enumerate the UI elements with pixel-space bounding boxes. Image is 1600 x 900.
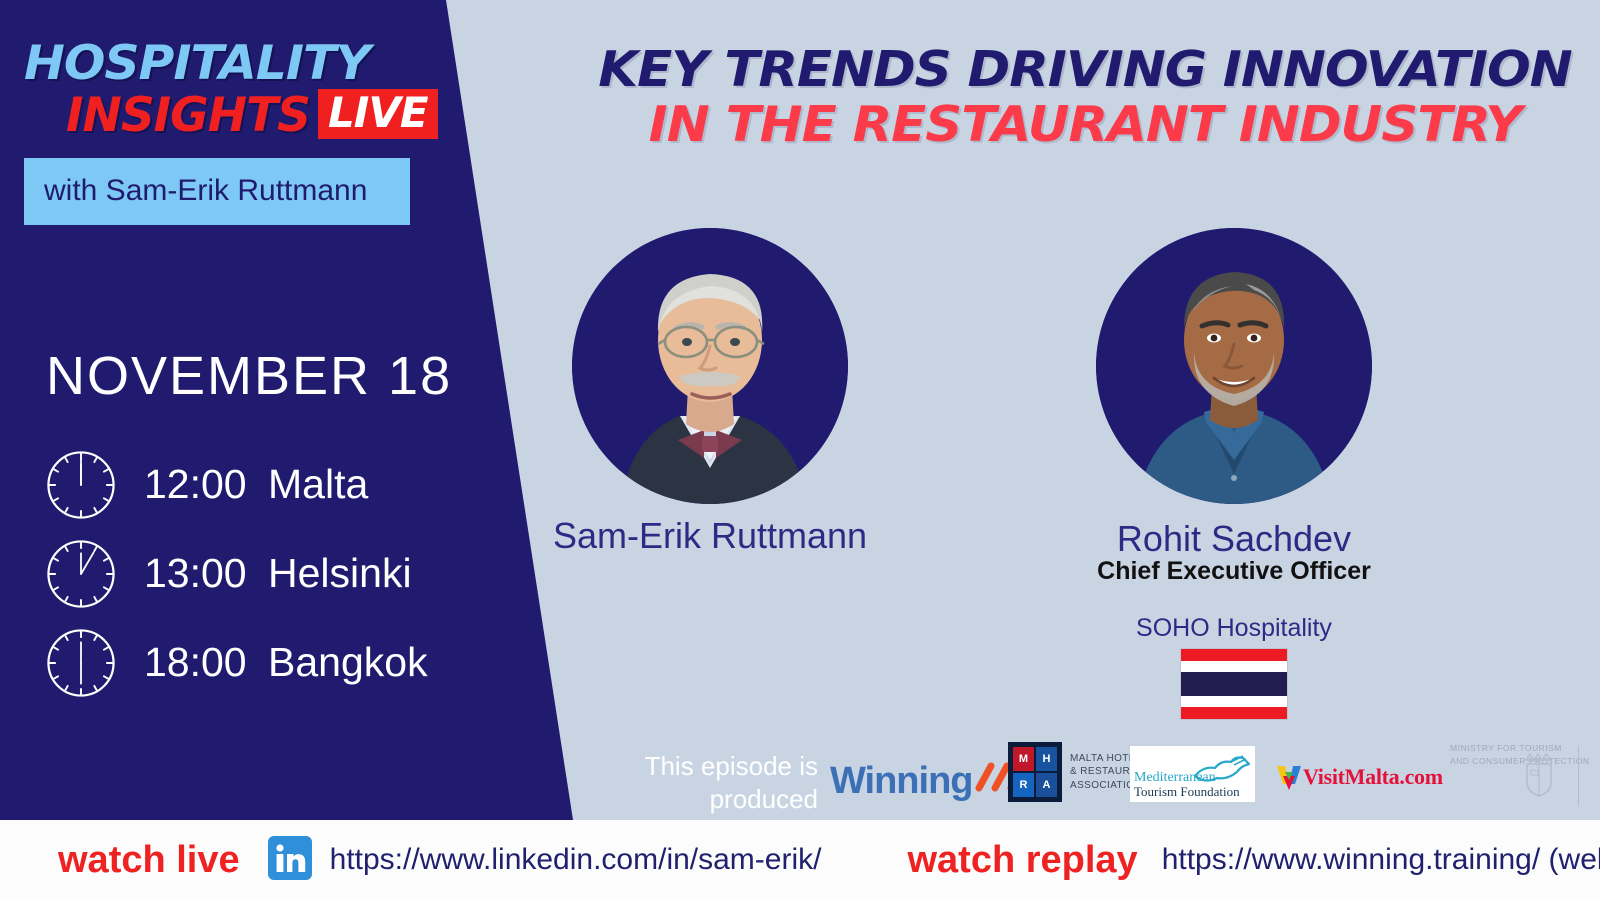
timezone-row: 12:00 Malta bbox=[44, 440, 428, 529]
timezone-time: 12:00 bbox=[144, 461, 247, 507]
avatar bbox=[572, 228, 848, 504]
headline: KEY TRENDS DRIVING INNOVATION IN THE RES… bbox=[580, 44, 1590, 152]
host-banner: with Sam-Erik Ruttmann bbox=[24, 158, 410, 225]
speaker-name: Sam-Erik Ruttmann bbox=[545, 515, 875, 557]
ministry-line2: AND CONSUMER PROTECTION bbox=[1450, 755, 1589, 768]
timezone-time: 13:00 bbox=[144, 550, 247, 596]
timezone-label: 12:00 Malta bbox=[144, 461, 368, 508]
footer-bar: watch live https://www.linkedin.com/in/s… bbox=[0, 820, 1600, 900]
replay-url[interactable]: https://www.winning.training/ (webinars) bbox=[1162, 843, 1600, 877]
avatar bbox=[1096, 228, 1372, 504]
mhra-cell: H bbox=[1036, 747, 1057, 771]
partner-logo-visitmalta: VisitMalta.com bbox=[1275, 762, 1443, 792]
speaker-title: Chief Executive Officer bbox=[1069, 557, 1399, 586]
visitmalta-wordmark: VisitMalta.com bbox=[1303, 764, 1443, 790]
clock-icon bbox=[44, 537, 118, 611]
thailand-flag-icon bbox=[1180, 648, 1288, 720]
partner-logo-ministry: MINISTRY FOR TOURISM AND CONSUMER PROTEC… bbox=[1450, 742, 1589, 772]
timezone-row: 18:00 Bangkok bbox=[44, 618, 428, 707]
mediterranean-sea-icon bbox=[1191, 750, 1253, 790]
timezone-label: 13:00 Helsinki bbox=[144, 550, 412, 597]
event-date: NOVEMBER 18 bbox=[46, 345, 452, 407]
linkedin-url[interactable]: https://www.linkedin.com/in/sam-erik/ bbox=[330, 843, 822, 877]
poster-canvas: HOSPITALITY INSIGHTS LIVE with Sam-Erik … bbox=[0, 0, 1600, 900]
ministry-wordmark: MINISTRY FOR TOURISM AND CONSUMER PROTEC… bbox=[1450, 742, 1589, 768]
timezone-row: 13:00 Helsinki bbox=[44, 529, 428, 618]
partnership-line1: This episode is produced bbox=[568, 750, 818, 815]
ministry-line1: MINISTRY FOR TOURISM bbox=[1450, 742, 1589, 755]
mhra-cell: R bbox=[1013, 773, 1034, 797]
linkedin-icon[interactable] bbox=[268, 836, 312, 885]
speaker-org: SOHO Hospitality bbox=[1069, 614, 1399, 643]
brand-logo: HOSPITALITY INSIGHTS LIVE with Sam-Erik … bbox=[24, 40, 424, 225]
partner-logo-mtf: Mediterranean Tourism Foundation bbox=[1130, 746, 1255, 802]
mhra-mark-icon: M H R A bbox=[1008, 742, 1062, 802]
mhra-cell: M bbox=[1013, 747, 1034, 771]
headline-line2: IN THE RESTAURANT INDUSTRY bbox=[555, 99, 1600, 152]
timezone-city: Helsinki bbox=[268, 550, 412, 596]
timezone-time: 18:00 bbox=[144, 639, 247, 685]
headline-line1: KEY TRENDS DRIVING INNOVATION bbox=[555, 44, 1600, 97]
visitmalta-v-icon bbox=[1275, 762, 1303, 792]
speaker-name: Rohit Sachdev bbox=[1069, 518, 1399, 560]
clock-icon bbox=[44, 626, 118, 700]
watch-live-label: watch live bbox=[58, 839, 240, 882]
mhra-cell: A bbox=[1036, 773, 1057, 797]
watch-replay-label: watch replay bbox=[907, 839, 1137, 882]
clock-icon bbox=[44, 448, 118, 522]
winning-wordmark: Winning bbox=[830, 762, 973, 800]
partner-logo-winning: Winning bbox=[830, 758, 1027, 804]
malta-coat-of-arms-icon bbox=[1522, 748, 1556, 800]
timezone-label: 18:00 Bangkok bbox=[144, 639, 428, 686]
timezone-city: Bangkok bbox=[268, 639, 428, 685]
timezone-list: 12:00 Malta bbox=[44, 440, 428, 707]
partner-logos: Winning M H R A MALTA HOTELS & RESTAURAN… bbox=[830, 740, 1570, 820]
live-badge: LIVE bbox=[318, 89, 438, 139]
brand-line1: HOSPITALITY bbox=[24, 40, 440, 87]
brand-line2: INSIGHTS bbox=[66, 92, 310, 139]
timezone-city: Malta bbox=[268, 461, 368, 507]
